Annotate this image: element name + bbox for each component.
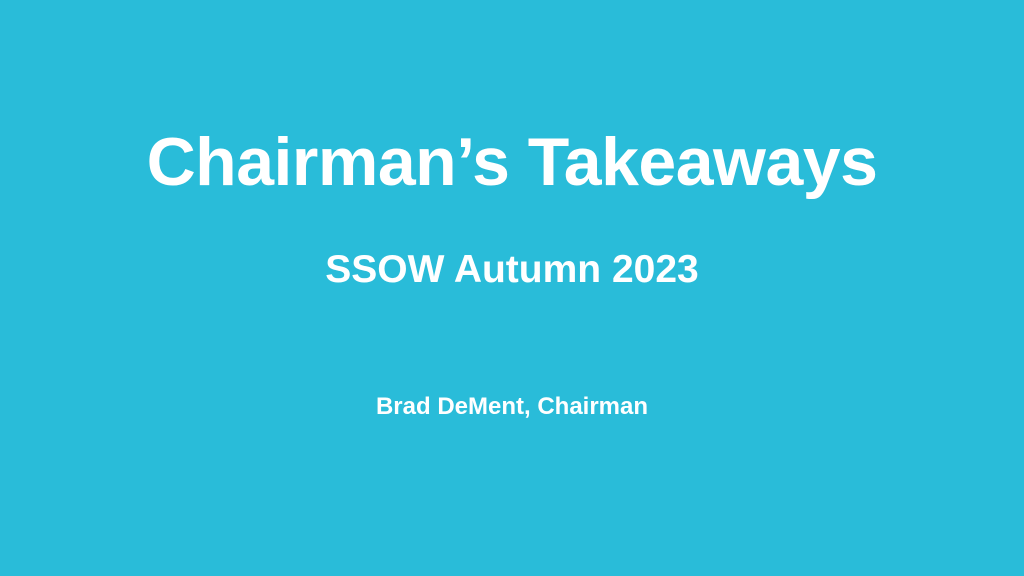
slide-subtitle: SSOW Autumn 2023	[0, 250, 1024, 289]
presenter-byline: Brad DeMent, Chairman	[0, 395, 1024, 419]
page-title: Chairman’s Takeaways	[0, 128, 1024, 196]
title-slide: Chairman’s Takeaways SSOW Autumn 2023 Br…	[0, 0, 1024, 576]
